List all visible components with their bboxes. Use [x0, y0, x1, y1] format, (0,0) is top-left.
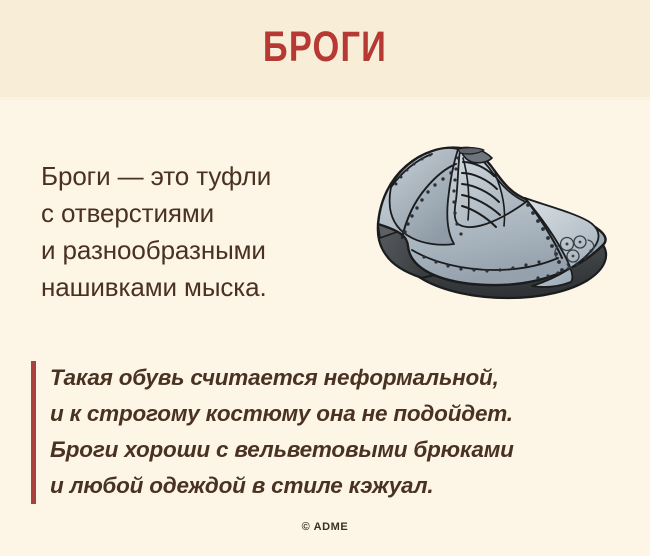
- quote-block: Такая обувь считается неформальной, и к …: [31, 361, 611, 504]
- page-title: БРОГИ: [65, 22, 585, 72]
- quote-paragraph: Такая обувь считается неформальной, и к …: [50, 360, 595, 504]
- brogue-shoe-illustration: [362, 128, 642, 313]
- intro-paragraph: Броги — это туфли с отверстиями и разноо…: [41, 158, 341, 306]
- header-band: БРОГИ: [0, 0, 650, 100]
- quote-accent-bar: [31, 361, 36, 504]
- footer-credit: © ADME: [0, 521, 650, 533]
- infographic-card: БРОГИ Броги — это туфли с отверстиями и …: [0, 0, 650, 556]
- shoe-quarter-panel: [390, 148, 458, 245]
